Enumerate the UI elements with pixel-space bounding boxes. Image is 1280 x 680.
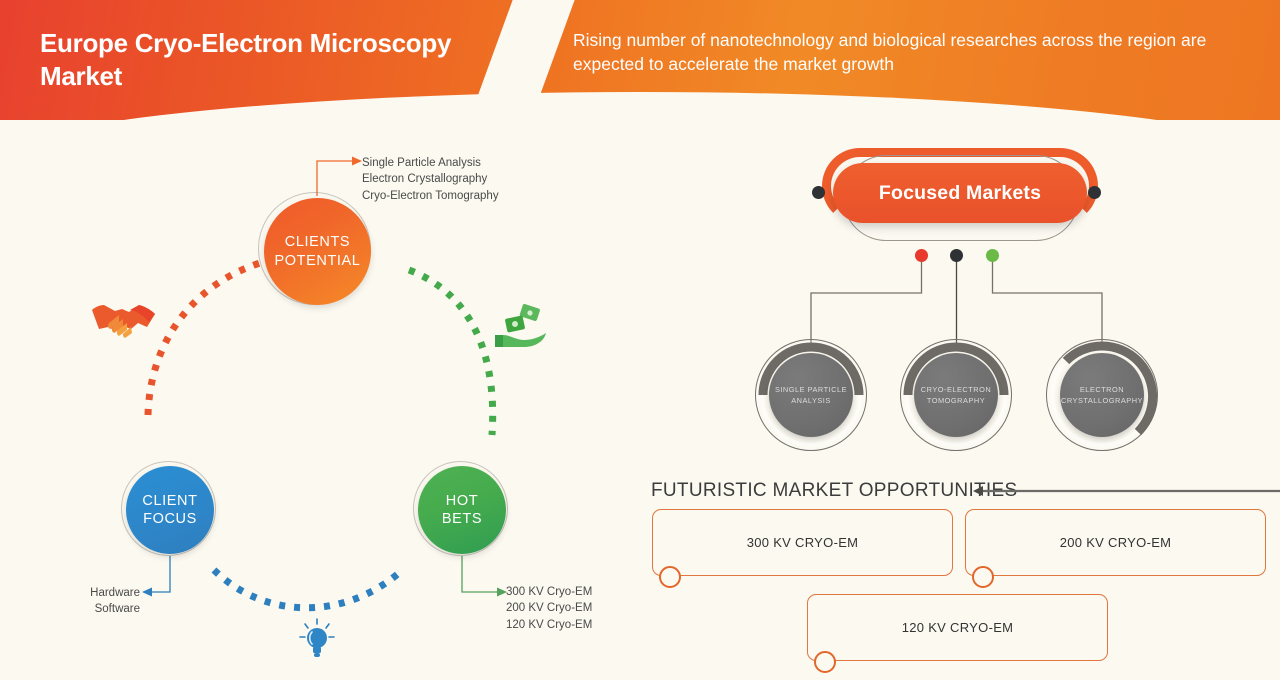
money-in-hand-icon	[494, 304, 548, 348]
market-circle-disc: ELECTRON CRYSTALLOGRAPHY	[1060, 353, 1144, 437]
bubble-label-line1: HOT	[442, 492, 482, 510]
stem-dot-red	[915, 249, 928, 262]
opportunity-box-300kv[interactable]: 300 KV CRYO-EM	[652, 509, 953, 576]
market-circle-single-particle-analysis[interactable]: SINGLE PARTICLE ANALYSIS	[755, 339, 867, 451]
market-circle-disc: SINGLE PARTICLE ANALYSIS	[769, 353, 853, 437]
market-circle-cryo-electron-tomography[interactable]: CRYO-ELECTRON TOMOGRAPHY	[900, 339, 1012, 451]
bubble-client-focus[interactable]: CLIENT FOCUS	[126, 466, 214, 554]
header-subtitle: Rising number of nanotechnology and biol…	[573, 28, 1253, 76]
infographic-root: Europe Cryo-Electron Microscopy Market R…	[0, 0, 1280, 680]
market-circle-disc: CRYO-ELECTRON TOMOGRAPHY	[914, 353, 998, 437]
stem-dot-green	[986, 249, 999, 262]
market-circle-label: CRYO-ELECTRON TOMOGRAPHY	[921, 384, 991, 407]
leader-clients-potential	[317, 161, 352, 196]
bubble-label-line1: CLIENT	[142, 492, 197, 510]
market-circle-electron-crystallography[interactable]: ELECTRON CRYSTALLOGRAPHY	[1046, 339, 1158, 451]
opportunity-knob-200kv	[972, 566, 994, 588]
bubble-hot-bets[interactable]: HOT BETS	[418, 466, 506, 554]
bubble-label-line2: FOCUS	[142, 510, 197, 528]
leader-client-focus	[152, 556, 170, 592]
opportunity-box-200kv[interactable]: 200 KV CRYO-EM	[965, 509, 1266, 576]
futuristic-arrow	[960, 470, 1280, 510]
market-circle-label: SINGLE PARTICLE ANALYSIS	[775, 384, 847, 407]
market-circle-label: ELECTRON CRYSTALLOGRAPHY	[1061, 384, 1143, 407]
connector-to-crystallography	[993, 261, 1103, 346]
opportunity-box-120kv[interactable]: 120 KV CRYO-EM	[807, 594, 1108, 661]
bubble-label-line2: BETS	[442, 510, 482, 528]
opportunity-knob-300kv	[659, 566, 681, 588]
clients-potential-note: Single Particle Analysis Electron Crysta…	[362, 155, 499, 204]
arrow-head-left-icon	[973, 486, 983, 496]
arrow-client-focus	[142, 588, 152, 597]
leader-hot-bets	[462, 556, 497, 592]
hot-bets-note: 300 KV Cryo-EM 200 KV Cryo-EM 120 KV Cry…	[506, 584, 592, 633]
bubble-label-line1: CLIENTS	[275, 233, 361, 251]
lightbulb-icon	[297, 618, 337, 662]
stem-dot-dark	[950, 249, 963, 262]
client-focus-note: Hardware Software	[78, 585, 140, 618]
opportunity-knob-120kv	[814, 651, 836, 673]
bubble-clients-potential[interactable]: CLIENTS POTENTIAL	[264, 198, 371, 305]
handshake-icon	[89, 296, 159, 344]
bubble-label-line2: POTENTIAL	[275, 252, 361, 270]
connector-to-single-particle	[811, 261, 922, 346]
arrow-clients-potential	[352, 157, 362, 166]
